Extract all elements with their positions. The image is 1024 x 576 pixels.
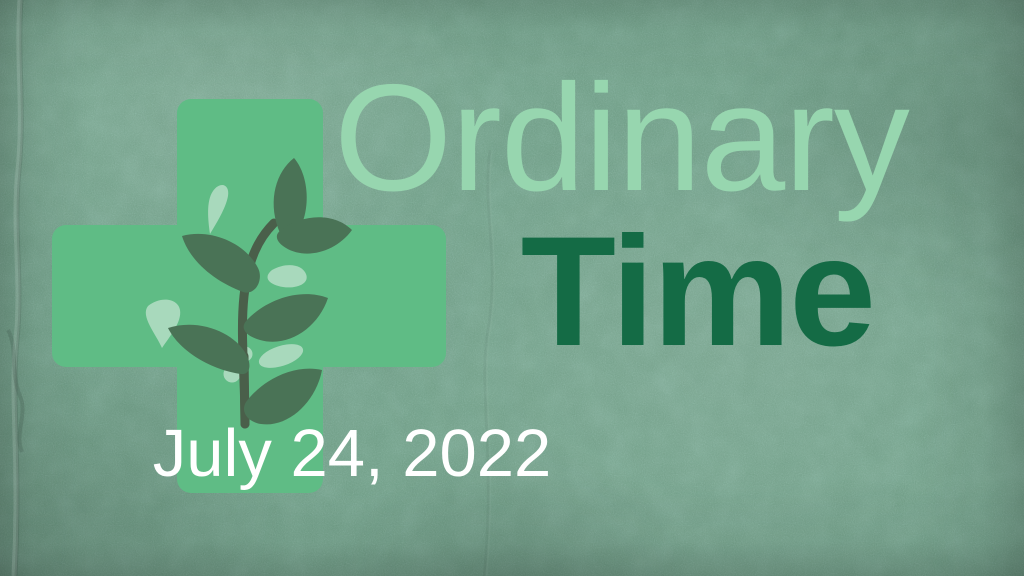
date-label: July 24, 2022 [0,420,1024,487]
page-title-line-1: Ordinary [334,62,909,214]
page-title-line-2: Time [0,214,874,370]
slide-canvas: Ordinary Time July 24, 2022 [0,0,1024,576]
